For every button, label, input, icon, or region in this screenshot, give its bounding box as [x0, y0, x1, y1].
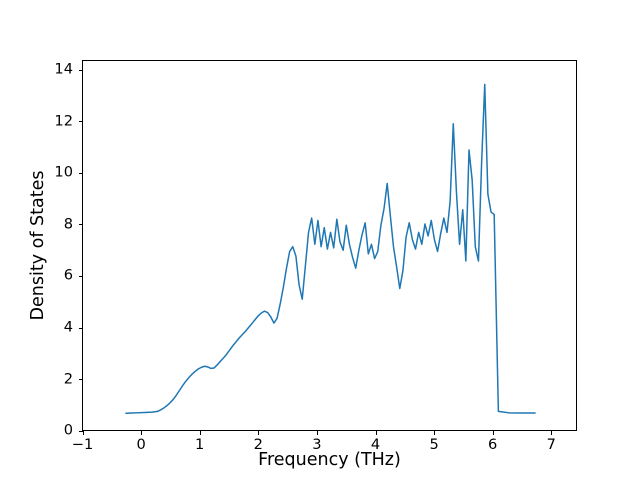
matplotlib-figure: −1 0 1 2 3 4 5 6 7 0 2 4 6 8 10 12 14 Fr… [0, 0, 640, 480]
xtick-mark [493, 431, 494, 435]
ytick-label: 4 [64, 321, 73, 336]
xtick-label: 7 [547, 438, 556, 453]
x-axis-label: Frequency (THz) [82, 452, 577, 470]
ytick-mark [79, 70, 83, 71]
xtick-label: 6 [488, 438, 497, 453]
ytick-label: 10 [54, 166, 73, 181]
ytick-mark [79, 328, 83, 329]
ytick-label: 12 [54, 114, 73, 129]
xtick-label: 5 [429, 438, 438, 453]
xtick-mark [83, 431, 84, 435]
dos-line-plot [83, 61, 576, 430]
xtick-mark [434, 431, 435, 435]
ytick-label: 6 [64, 269, 73, 284]
ytick-mark [79, 276, 83, 277]
ytick-label: 0 [64, 424, 73, 439]
xtick-mark [551, 431, 552, 435]
xtick-label: −1 [72, 438, 94, 453]
dos-series-line [126, 84, 535, 413]
xtick-mark [141, 431, 142, 435]
ytick-label: 2 [64, 372, 73, 387]
y-axis-label: Density of States [30, 60, 48, 431]
ytick-mark [79, 121, 83, 122]
ytick-mark [79, 431, 83, 432]
ytick-mark [79, 379, 83, 380]
xtick-mark [376, 431, 377, 435]
xtick-mark [258, 431, 259, 435]
xtick-mark [200, 431, 201, 435]
xtick-label: 0 [136, 438, 145, 453]
ytick-mark [79, 173, 83, 174]
ytick-mark [79, 224, 83, 225]
ytick-label: 14 [54, 63, 73, 78]
xtick-mark [317, 431, 318, 435]
plot-axes [82, 60, 577, 431]
ytick-label: 8 [64, 218, 73, 233]
xtick-label: 1 [195, 438, 204, 453]
